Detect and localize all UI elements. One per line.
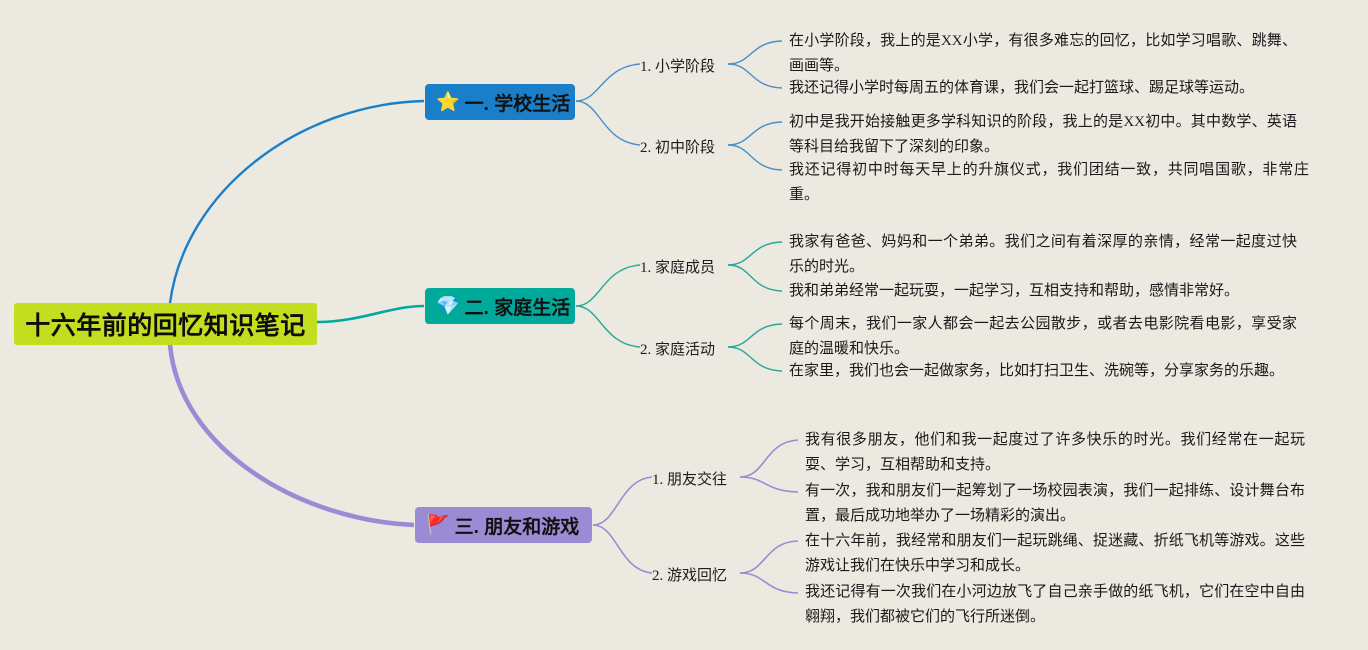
sub-node-label: 1. 小学阶段 — [640, 59, 715, 75]
branch-node-school-life[interactable]: ⭐ 一. 学校生活 — [425, 84, 575, 120]
root-label: 十六年前的回忆知识笔记 — [25, 306, 306, 342]
mindmap-canvas: 十六年前的回忆知识笔记 ⭐ 一. 学校生活 1. 小学阶段 2. 初中阶段 在小… — [0, 0, 1368, 650]
edge-sub22-leaf1 — [728, 324, 782, 347]
diamond-icon: 💎 — [436, 297, 460, 316]
leaf-text[interactable]: 我有很多朋友，他们和我一起度过了许多快乐的时光。我们经常在一起玩耍、学习，互相帮… — [805, 428, 1305, 478]
edge-sub22-leaf2 — [728, 347, 782, 371]
edge-sub31-leaf2 — [740, 477, 798, 492]
sub-node-family-activities[interactable]: 2. 家庭活动 — [640, 338, 715, 359]
leaf-text[interactable]: 有一次，我和朋友们一起筹划了一场校园表演，我们一起排练、设计舞台布置，最后成功地… — [805, 479, 1305, 529]
edge-sub32-leaf2 — [740, 573, 798, 593]
branch-node-friends-and-games[interactable]: 🚩 三. 朋友和游戏 — [415, 507, 592, 543]
edge-sub32-leaf1 — [740, 541, 798, 573]
branch-label: 二. 家庭生活 — [465, 293, 571, 320]
sub-node-friendship[interactable]: 1. 朋友交往 — [652, 468, 727, 489]
leaf-text[interactable]: 我家有爸爸、妈妈和一个弟弟。我们之间有着深厚的亲情，经常一起度过快乐的时光。 — [789, 230, 1297, 280]
edge-sub21-leaf1 — [728, 242, 782, 265]
red-flag-icon: 🚩 — [426, 516, 450, 535]
edge-sub12-leaf1 — [728, 122, 782, 145]
sub-node-label: 2. 游戏回忆 — [652, 568, 727, 584]
edge-branch1-sub2 — [576, 101, 640, 145]
edge-sub31-leaf1 — [740, 440, 798, 477]
root-node[interactable]: 十六年前的回忆知识笔记 — [14, 303, 317, 345]
edge-root-to-branch-2 — [317, 306, 424, 322]
branch-label: 一. 学校生活 — [465, 89, 571, 116]
sub-node-middle-school[interactable]: 2. 初中阶段 — [640, 136, 715, 157]
sub-node-label: 1. 朋友交往 — [652, 472, 727, 488]
edge-root-to-branch-1 — [170, 101, 424, 303]
edge-sub21-leaf2 — [728, 265, 782, 291]
sub-node-primary-school[interactable]: 1. 小学阶段 — [640, 55, 715, 76]
star-icon: ⭐ — [436, 93, 460, 112]
leaf-text[interactable]: 在十六年前，我经常和朋友们一起玩跳绳、捉迷藏、折纸飞机等游戏。这些游戏让我们在快… — [805, 529, 1305, 579]
leaf-text[interactable]: 初中是我开始接触更多学科知识的阶段，我上的是XX初中。其中数学、英语等科目给我留… — [789, 110, 1297, 160]
branch-label: 三. 朋友和游戏 — [455, 512, 580, 539]
leaf-text[interactable]: 我还记得小学时每周五的体育课，我们会一起打篮球、踢足球等运动。 — [789, 76, 1309, 101]
leaf-text[interactable]: 在小学阶段，我上的是XX小学，有很多难忘的回忆，比如学习唱歌、跳舞、画画等。 — [789, 29, 1297, 79]
sub-node-game-memories[interactable]: 2. 游戏回忆 — [652, 564, 727, 585]
branch-node-family-life[interactable]: 💎 二. 家庭生活 — [425, 288, 575, 324]
leaf-text[interactable]: 每个周末，我们一家人都会一起去公园散步，或者去电影院看电影，享受家庭的温暖和快乐… — [789, 312, 1297, 362]
edge-branch1-sub1 — [576, 64, 640, 101]
edge-branch3-sub2 — [593, 525, 652, 573]
edge-branch2-sub2 — [576, 306, 640, 347]
sub-node-label: 2. 家庭活动 — [640, 342, 715, 358]
edge-branch3-sub1 — [593, 477, 652, 525]
leaf-text[interactable]: 我还记得初中时每天早上的升旗仪式，我们团结一致，共同唱国歌，非常庄重。 — [789, 158, 1309, 208]
edge-sub12-leaf2 — [728, 145, 782, 170]
edge-branch2-sub1 — [576, 265, 640, 306]
edge-root-to-branch-3 — [170, 345, 414, 525]
sub-node-label: 2. 初中阶段 — [640, 140, 715, 156]
sub-node-label: 1. 家庭成员 — [640, 260, 715, 276]
leaf-text[interactable]: 我还记得有一次我们在小河边放飞了自己亲手做的纸飞机，它们在空中自由翱翔，我们都被… — [805, 580, 1305, 630]
edge-sub11-leaf2 — [728, 64, 782, 88]
leaf-text[interactable]: 我和弟弟经常一起玩耍，一起学习，互相支持和帮助，感情非常好。 — [789, 279, 1309, 304]
leaf-text[interactable]: 在家里，我们也会一起做家务，比如打扫卫生、洗碗等，分享家务的乐趣。 — [789, 359, 1309, 384]
edge-sub11-leaf1 — [728, 41, 782, 64]
sub-node-family-members[interactable]: 1. 家庭成员 — [640, 256, 715, 277]
